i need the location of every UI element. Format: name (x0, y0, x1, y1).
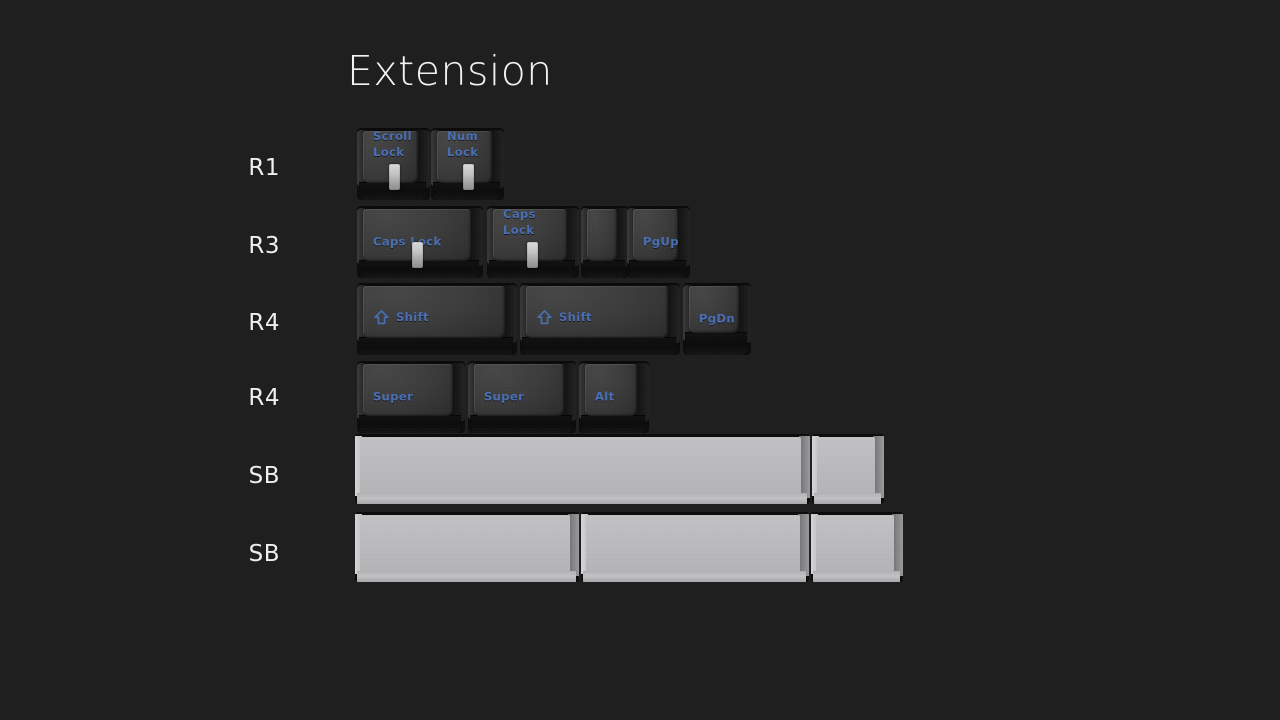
keycap-wall-b (470, 415, 572, 433)
keycap-wall-b (583, 260, 625, 278)
row-profile-label: SB (200, 541, 280, 567)
keycap-wall-r (635, 363, 649, 421)
keycap-top (816, 515, 894, 572)
led-indicator-window (389, 164, 400, 190)
keycap-caps-lock-wide[interactable]: Caps Lock (357, 206, 483, 278)
keyboard-row: R3Caps LockCaps LockPgUp (0, 206, 1280, 284)
keycap-wall-b (629, 260, 686, 278)
keycap-wall-r (416, 130, 430, 188)
keycap-top (817, 437, 875, 494)
keycap-top (474, 364, 564, 416)
keycap-wall-r (562, 363, 576, 421)
keycap-spacebar-1_5u[interactable] (811, 512, 903, 582)
keycap-right-shift[interactable]: Shift (520, 283, 680, 355)
keycap-num-lock[interactable]: Num Lock (431, 128, 504, 200)
led-indicator-window (463, 164, 474, 190)
keycap-wall-r (490, 130, 504, 188)
keycap-top (363, 286, 505, 338)
row-profile-label: R4 (200, 310, 280, 336)
keycap-spacebar-3u[interactable] (355, 512, 579, 582)
keycap-wall-b (814, 493, 881, 504)
keycap-page-up[interactable]: PgUp (627, 206, 690, 278)
keycap-wall-b (813, 571, 900, 582)
keycap-spacebar-3_25u[interactable] (581, 512, 809, 582)
keycap-wall-b (359, 337, 513, 355)
keycap-top (585, 364, 637, 416)
keycap-wall-b (522, 337, 676, 355)
keycap-spacebar-7u[interactable] (355, 434, 810, 504)
keycap-wall-b (357, 493, 807, 504)
page-title: Extension (347, 45, 553, 97)
keycap-super-right[interactable]: Super (468, 361, 576, 433)
keycap-top (587, 209, 617, 261)
keycap-alt-right[interactable]: Alt (579, 361, 649, 433)
keycap-spacebar-1_25u[interactable] (812, 434, 884, 504)
keycap-wall-r (503, 285, 517, 343)
keyboard-row: SB (0, 434, 1280, 512)
keycap-top (689, 286, 739, 333)
keycap-wall-r (666, 285, 680, 343)
led-indicator-window (412, 242, 423, 268)
keyboard-row: R4ShiftShiftPgDn (0, 283, 1280, 361)
keycap-wall-b (583, 571, 806, 582)
keycap-top (360, 515, 570, 572)
keycap-wall-b (357, 571, 576, 582)
keycap-wall-r (676, 208, 690, 266)
keycap-super-left[interactable]: Super (357, 361, 465, 433)
led-indicator-window (527, 242, 538, 268)
keycap-wall-b (359, 415, 461, 433)
row-profile-label: R4 (200, 385, 280, 411)
keycap-scroll-lock[interactable]: Scroll Lock (357, 128, 430, 200)
keycap-top (526, 286, 668, 338)
keycap-wall-b (685, 332, 747, 355)
keycap-render-canvas: Extension R1Scroll LockNum LockR3Caps Lo… (0, 0, 1280, 720)
keycap-top (363, 364, 453, 416)
keycap-top (360, 437, 801, 494)
keycap-wall-r (565, 208, 579, 266)
keycap-left-shift[interactable]: Shift (357, 283, 517, 355)
row-profile-label: R1 (200, 155, 280, 181)
keycap-page-down[interactable]: PgDn (683, 283, 751, 355)
keycap-wall-b (581, 415, 645, 433)
keycap-wall-r (469, 208, 483, 266)
keycap-caps-lock-small[interactable]: Caps Lock (487, 206, 579, 278)
row-profile-label: R3 (200, 233, 280, 259)
keycap-blank-1u[interactable] (581, 206, 629, 278)
keyboard-row: R1Scroll LockNum Lock (0, 128, 1280, 206)
row-profile-label: SB (200, 463, 280, 489)
keycap-top (633, 209, 678, 261)
keyboard-row: SB (0, 512, 1280, 590)
keycap-top (586, 515, 800, 572)
keycap-wall-r (451, 363, 465, 421)
keyboard-row: R4SuperSuperAlt (0, 361, 1280, 439)
